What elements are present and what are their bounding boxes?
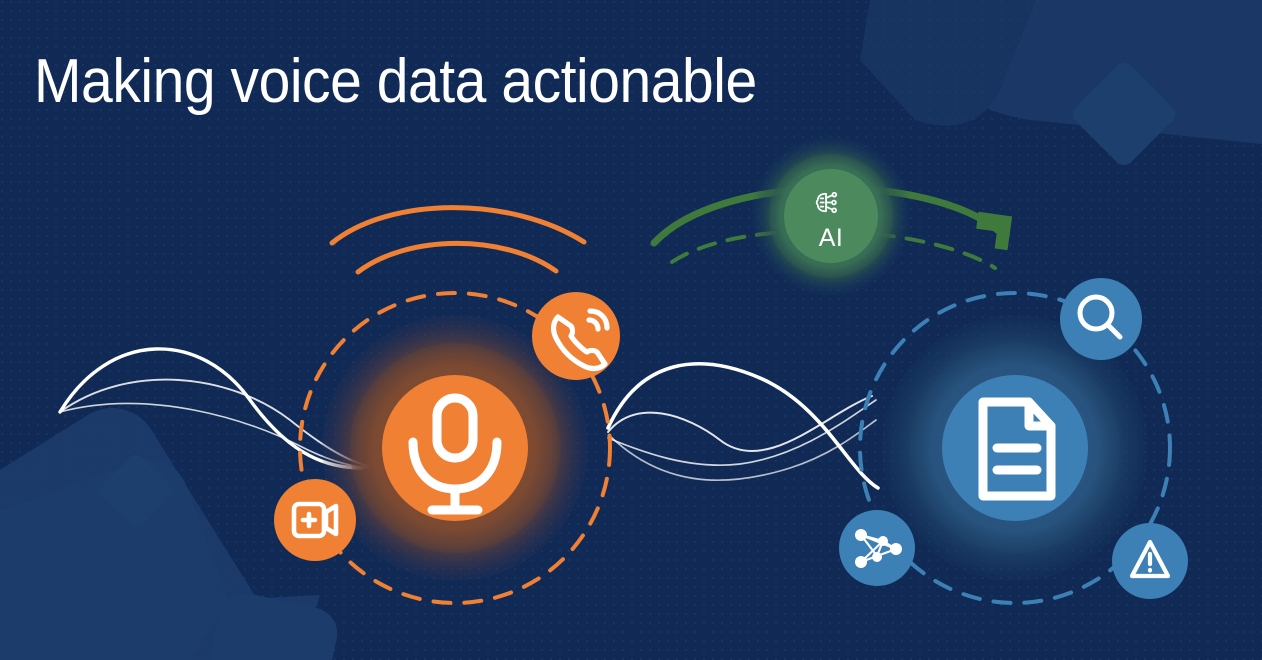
page-title: Making voice data actionable [34,48,757,116]
phone-badge-circle [532,292,620,380]
illustration-canvas: AI [0,0,1262,660]
search-badge-circle [1060,278,1142,360]
phone-call-badge[interactable] [532,292,620,380]
video-call-badge[interactable] [274,479,356,561]
alert-badge[interactable] [1112,523,1188,599]
search-badge[interactable] [1060,278,1142,360]
neural-network-badge[interactable] [839,510,915,586]
